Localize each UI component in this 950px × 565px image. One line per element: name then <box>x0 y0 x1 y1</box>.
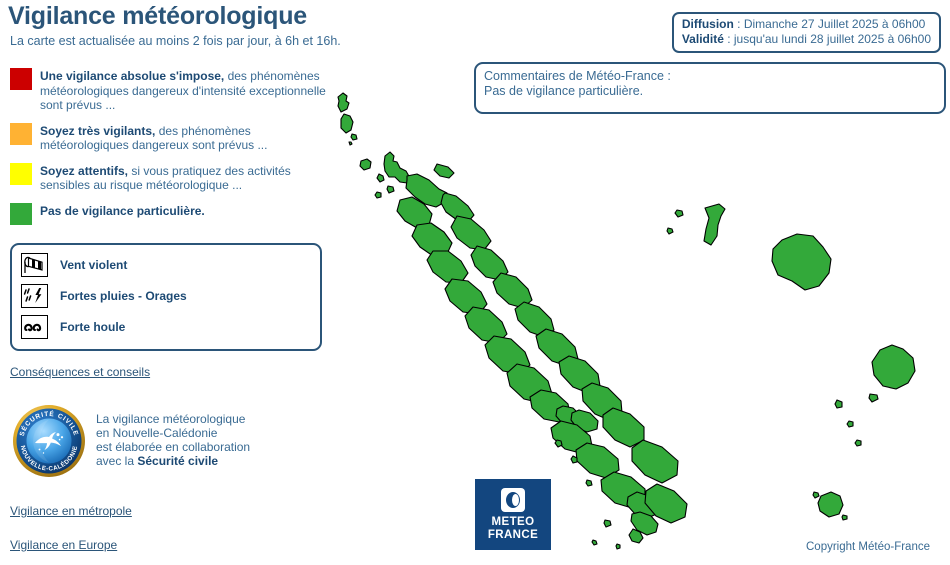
map-region-ouvea-islet-2[interactable] <box>667 228 673 234</box>
legend-green-strong: Pas de vigilance particulière. <box>40 204 205 218</box>
diffusion-label: Diffusion <box>682 17 734 31</box>
link-consequences-et-conseils[interactable]: Conséquences et conseils <box>10 365 150 379</box>
map-islet-sw-3[interactable] <box>586 480 592 486</box>
vigilance-page: Vigilance météorologique La carte est ac… <box>0 0 950 565</box>
page-title: Vigilance météorologique <box>8 2 307 31</box>
map-islet-sw-4[interactable] <box>604 520 611 527</box>
validity-line: Validité : jusqu'au lundi 28 juillet 202… <box>682 32 931 47</box>
map-region-belep[interactable] <box>338 93 349 112</box>
map-region-belep-islet-2[interactable] <box>349 142 352 145</box>
map-region-islet-west[interactable] <box>360 159 371 170</box>
legend-red-strong: Une vigilance absolue s'impose, <box>40 69 224 83</box>
securite-civile-line-1: La vigilance météorologique <box>96 412 250 426</box>
map-region-ouvea-islets[interactable] <box>675 210 683 217</box>
map-islet-loyalty-2[interactable] <box>869 394 878 402</box>
page-subtitle: La carte est actualisée au moins 2 fois … <box>10 34 341 48</box>
diffusion-line: Diffusion : Dimanche 27 Juillet 2025 à 0… <box>682 17 931 32</box>
map-islet-loyalty-1[interactable] <box>835 400 842 408</box>
map-region-belep-south[interactable] <box>341 114 353 133</box>
map-islet-loyalty-4[interactable] <box>855 440 861 446</box>
map-region-thio[interactable] <box>603 408 644 447</box>
diffusion-validity-box: Diffusion : Dimanche 27 Juillet 2025 à 0… <box>672 12 941 53</box>
vigilance-colour-legend: Une vigilance absolue s'impose, des phén… <box>10 68 340 235</box>
legend-orange-strong: Soyez très vigilants, <box>40 124 155 138</box>
validity-value: : jusqu'au lundi 28 juillet 2025 à 06h00 <box>724 32 931 46</box>
green-swatch <box>10 203 32 225</box>
map-region-mare[interactable] <box>872 345 915 389</box>
map-islet-sw-2[interactable] <box>555 440 562 447</box>
comments-heading: Commentaires de Météo-France : <box>484 69 936 84</box>
map-islet-sw-5[interactable] <box>592 540 597 545</box>
map-region-ouvea[interactable] <box>704 204 725 245</box>
legend-item-yellow: Soyez attentifs, si vous pratiquez des a… <box>10 163 340 193</box>
map-region-hienghene[interactable] <box>451 216 491 250</box>
map-region-ile-des-pins[interactable] <box>818 492 843 517</box>
map-region-islet-north-east[interactable] <box>434 164 454 178</box>
yellow-swatch <box>10 163 32 185</box>
legend-item-red: Une vigilance absolue s'impose, des phén… <box>10 68 340 113</box>
securite-civile-line-2: en Nouvelle-Calédonie <box>96 426 250 440</box>
map-region-poum-islet-a[interactable] <box>377 174 384 182</box>
legend-item-red-text: Une vigilance absolue s'impose, des phén… <box>40 68 340 113</box>
map-region-belep-islet-1[interactable] <box>351 134 357 140</box>
rain-thunderstorm-icon <box>21 284 48 308</box>
map-islet-loyalty-3[interactable] <box>847 421 853 427</box>
new-caledonia-vigilance-map[interactable] <box>325 88 945 558</box>
phenomena-item-wind-label: Vent violent <box>60 258 127 272</box>
map-region-lifou[interactable] <box>772 234 831 290</box>
phenomena-item-rain-storm-label: Fortes pluies - Orages <box>60 289 187 303</box>
legend-item-yellow-text: Soyez attentifs, si vous pratiquez des a… <box>40 163 340 193</box>
link-vigilance-metropole[interactable]: Vigilance en métropole <box>10 504 132 518</box>
map-islet-pins-2[interactable] <box>842 515 847 520</box>
legend-item-orange: Soyez très vigilants, des phénomènes mét… <box>10 123 340 153</box>
legend-yellow-strong: Soyez attentifs, <box>40 164 128 178</box>
heavy-swell-icon <box>21 315 48 339</box>
map-region-poum-islet-c[interactable] <box>375 192 381 198</box>
securite-civile-block: SÉCURITÉ CIVILE NOUVELLE-CALÉDONIE La vi… <box>12 404 250 478</box>
phenomena-item-rain-storm: Fortes pluies - Orages <box>21 281 320 311</box>
legend-item-green: Pas de vigilance particulière. <box>10 203 340 225</box>
map-region-voh[interactable] <box>427 251 468 283</box>
securite-civile-line-3: est élaborée en collaboration <box>96 440 250 454</box>
securite-civile-text: La vigilance météorologique en Nouvelle-… <box>96 404 250 468</box>
red-swatch <box>10 68 32 90</box>
securite-civile-line-4: avec la Sécurité civile <box>96 454 250 468</box>
map-region-poum-islet-b[interactable] <box>387 186 394 193</box>
map-islet-sw-1[interactable] <box>571 456 577 463</box>
diffusion-value: : Dimanche 27 Juillet 2025 à 06h00 <box>734 17 925 31</box>
phenomena-item-swell: Forte houle <box>21 312 320 342</box>
map-region-poum[interactable] <box>384 152 410 183</box>
phenomena-item-wind: Vent violent <box>21 250 320 280</box>
map-islet-sw-6[interactable] <box>616 544 620 549</box>
securite-civile-logo: SÉCURITÉ CIVILE NOUVELLE-CALÉDONIE <box>12 404 86 478</box>
legend-item-green-text: Pas de vigilance particulière. <box>40 203 205 219</box>
legend-item-orange-text: Soyez très vigilants, des phénomènes mét… <box>40 123 340 153</box>
securite-civile-line-4-strong: Sécurité civile <box>137 454 218 468</box>
link-vigilance-europe[interactable]: Vigilance en Europe <box>10 538 117 552</box>
orange-swatch <box>10 123 32 145</box>
phenomena-item-swell-label: Forte houle <box>60 320 125 334</box>
phenomena-legend-box: Vent violent Fortes pluies - Orages <box>10 243 322 351</box>
map-region-yate[interactable] <box>632 440 678 483</box>
map-svg[interactable] <box>325 88 945 558</box>
map-islet-pins-1[interactable] <box>813 492 819 498</box>
validity-label: Validité <box>682 32 724 46</box>
windsock-icon <box>21 253 48 277</box>
securite-civile-line-4-prefix: avec la <box>96 454 137 468</box>
